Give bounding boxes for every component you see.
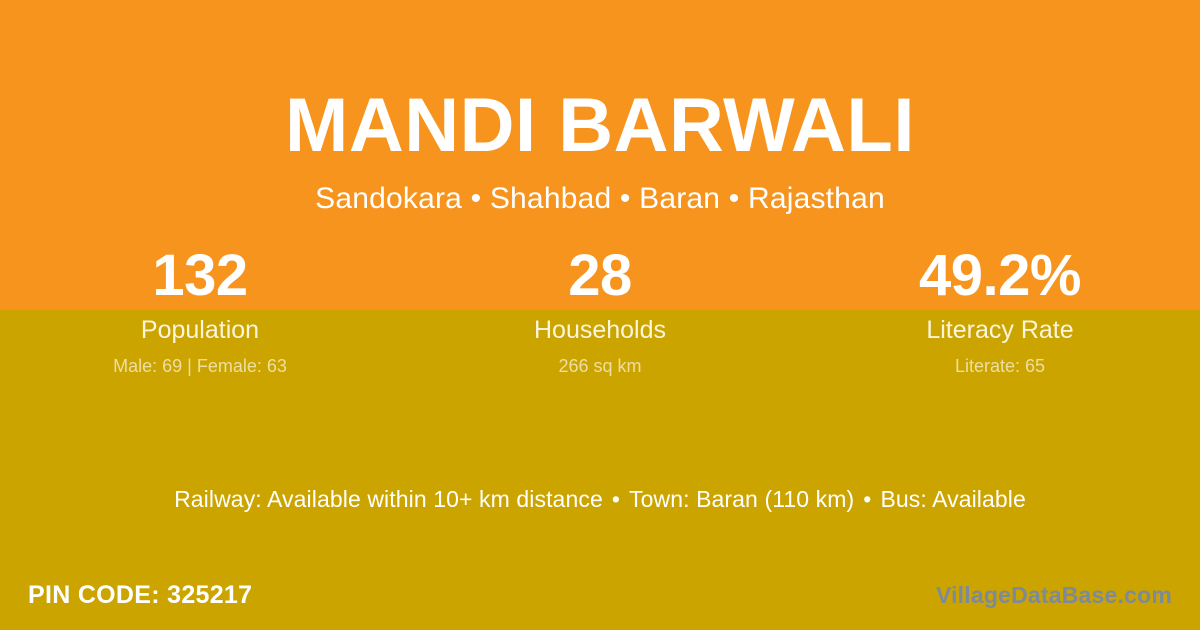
stat-sublabel: 266 sq km <box>400 355 800 377</box>
breadcrumb: Sandokara • Shahbad • Baran • Rajasthan <box>0 182 1200 216</box>
stat-label: Population <box>0 316 400 344</box>
stat-label: Households <box>400 316 800 344</box>
amenity-town: Town: Baran (110 km) <box>629 486 854 512</box>
pin-code: PIN CODE: 325217 <box>28 580 252 610</box>
stat-sublabel: Male: 69 | Female: 63 <box>0 355 400 377</box>
amenity-bus: Bus: Available <box>880 486 1025 512</box>
stat-value: 132 <box>0 244 400 308</box>
stats-row: 132 Population Male: 69 | Female: 63 28 … <box>0 244 1200 377</box>
amenity-separator: • <box>854 486 880 512</box>
stat-label: Literacy Rate <box>800 316 1200 344</box>
stat-households: 28 Households 266 sq km <box>400 244 800 377</box>
stat-value: 28 <box>400 244 800 308</box>
stat-sublabel: Literate: 65 <box>800 355 1200 377</box>
stat-value: 49.2% <box>800 244 1200 308</box>
amenity-railway: Railway: Available within 10+ km distanc… <box>174 486 603 512</box>
footer: PIN CODE: 325217 VillageDataBase.com <box>0 560 1200 630</box>
page-title: MANDI BARWALI <box>0 88 1200 164</box>
amenity-separator: • <box>603 486 629 512</box>
amenities-line: Railway: Available within 10+ km distanc… <box>0 484 1200 514</box>
village-info-card: MANDI BARWALI Sandokara • Shahbad • Bara… <box>0 0 1200 630</box>
stat-literacy-rate: 49.2% Literacy Rate Literate: 65 <box>800 244 1200 377</box>
site-brand: VillageDataBase.com <box>936 581 1172 609</box>
stat-population: 132 Population Male: 69 | Female: 63 <box>0 244 400 377</box>
